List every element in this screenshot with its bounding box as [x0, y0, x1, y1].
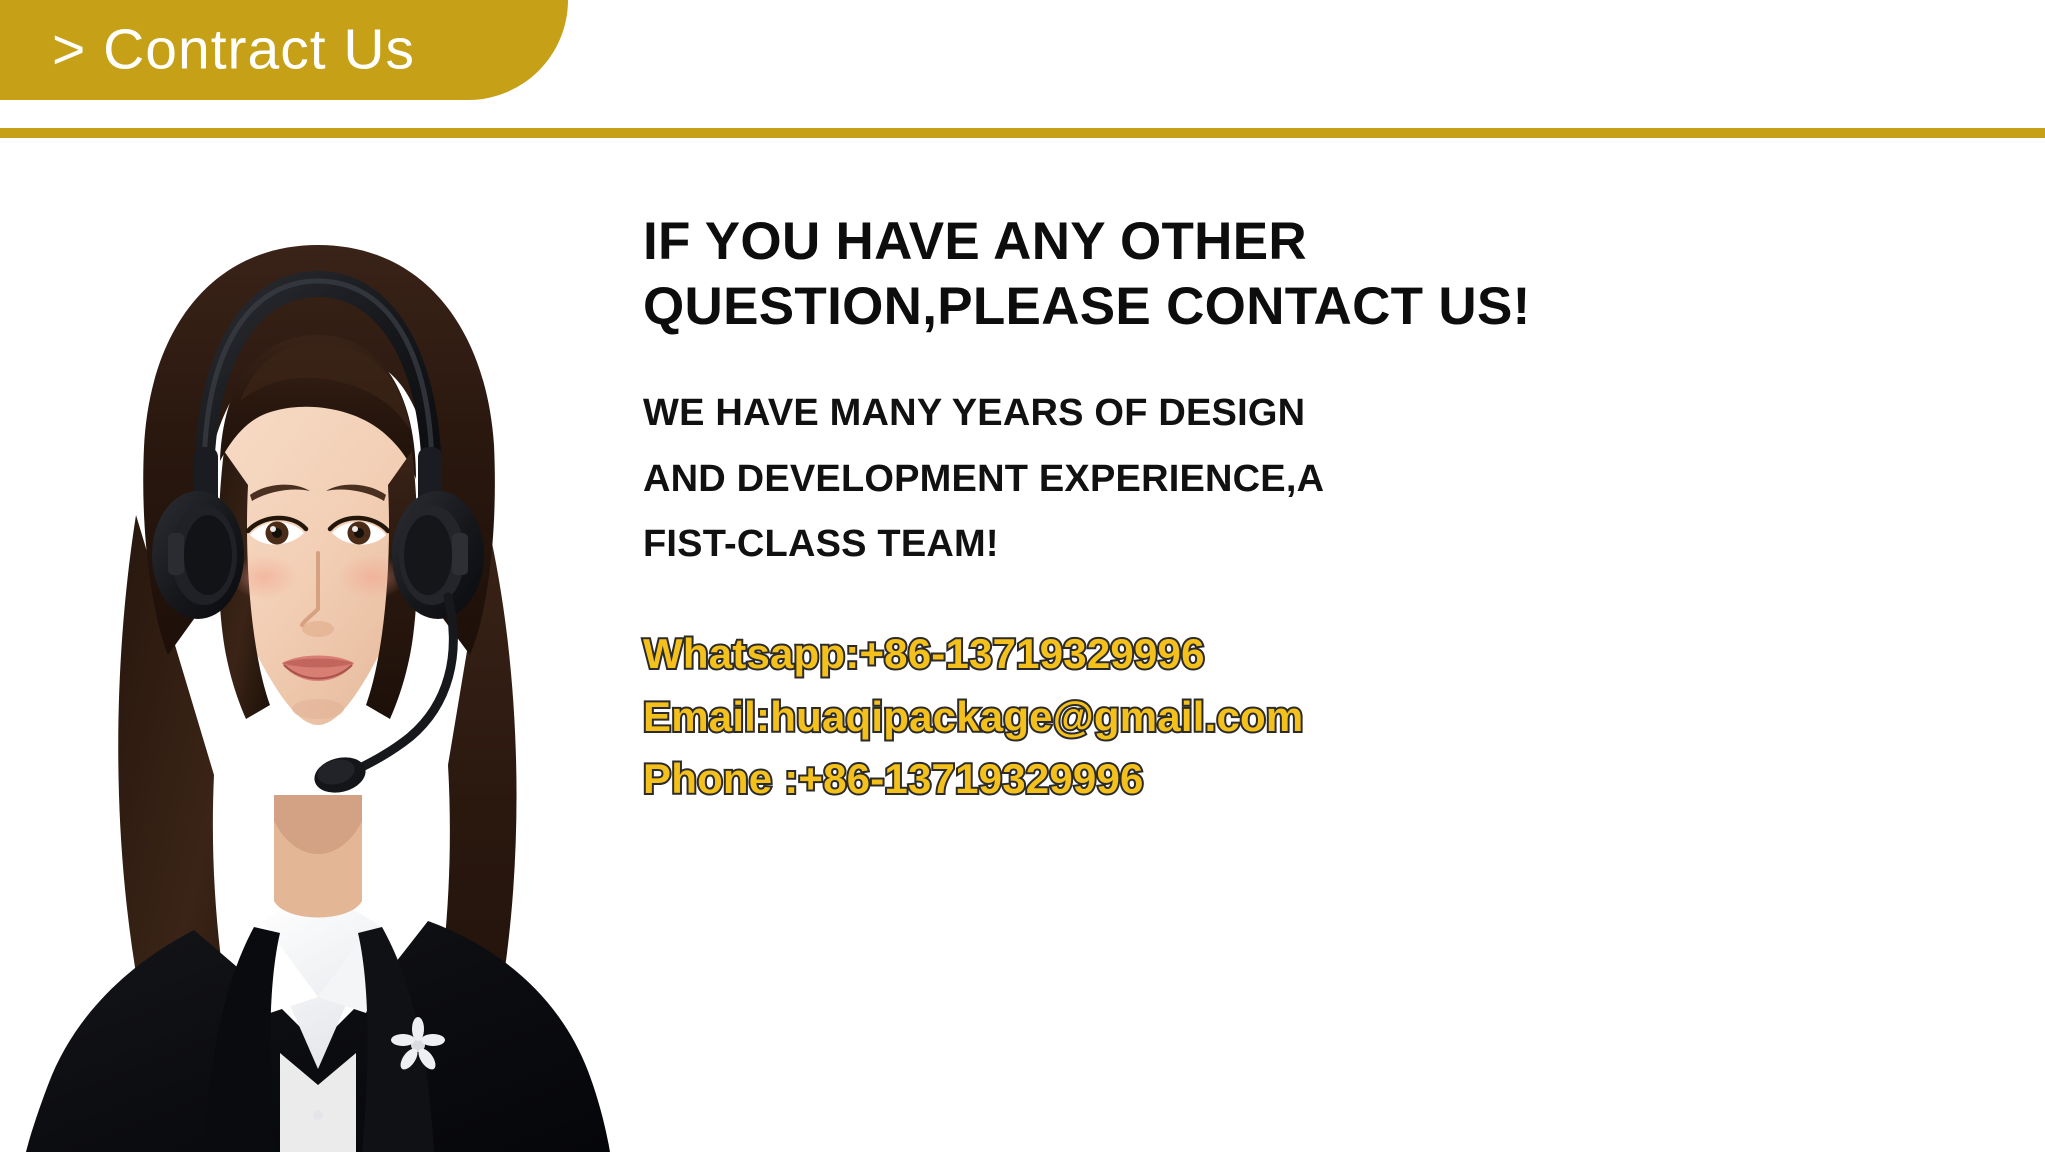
contact-content: IF YOU HAVE ANY OTHER QUESTION,PLEASE CO…: [643, 210, 1983, 810]
headline-line-1: IF YOU HAVE ANY OTHER: [643, 210, 1983, 275]
customer-service-rep-illustration: [18, 185, 618, 1152]
earcup-right: [392, 491, 484, 619]
earcup-left: [152, 491, 244, 619]
headline-line-2: QUESTION,PLEASE CONTACT US!: [643, 275, 1983, 340]
contact-email[interactable]: Email:huaqipackage@gmail.com: [643, 686, 1983, 748]
page-headline: IF YOU HAVE ANY OTHER QUESTION,PLEASE CO…: [643, 210, 1983, 339]
page-header: > Contract Us: [0, 0, 2045, 140]
subcopy-line-1: WE HAVE MANY YEARS OF DESIGN: [643, 381, 1983, 446]
header-title: > Contract Us: [52, 22, 415, 79]
subcopy-line-2: AND DEVELOPMENT EXPERIENCE,A: [643, 447, 1983, 512]
contact-whatsapp[interactable]: Whatsapp:+86-13719329996: [643, 623, 1983, 685]
header-tab: > Contract Us: [0, 0, 568, 100]
header-divider-rule: [0, 128, 2045, 138]
subcopy-line-3: FIST-CLASS TEAM!: [643, 512, 1983, 577]
subcopy-paragraph: WE HAVE MANY YEARS OF DESIGN AND DEVELOP…: [643, 381, 1983, 577]
portrait-image: [18, 185, 618, 1152]
contact-phone[interactable]: Phone :+86-13719329996: [643, 748, 1983, 810]
contact-details: Whatsapp:+86-13719329996 Email:huaqipack…: [643, 623, 1983, 809]
